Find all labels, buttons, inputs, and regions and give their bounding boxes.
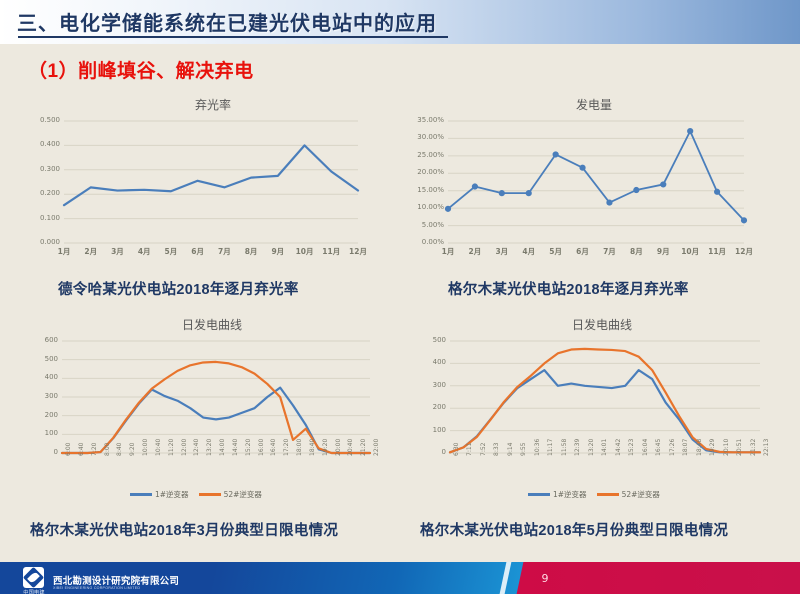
chart-title-3: 日发电曲线 — [22, 316, 402, 333]
x-axis-tick-label: 22:00 — [373, 439, 380, 456]
chart-canvas-1: 0.0000.1000.2000.3000.4000.5001月2月3月4月5月… — [28, 115, 368, 265]
legend-swatch-series2 — [199, 493, 221, 496]
x-axis-tick-label: 11:17 — [547, 439, 554, 456]
legend-label-series1: 1#逆变器 — [553, 489, 587, 500]
x-axis-tick-label: 5月 — [542, 246, 570, 257]
x-axis-tick-label: 9:55 — [520, 443, 527, 456]
y-axis-tick-label: 300 — [412, 381, 446, 389]
plot-area — [28, 115, 368, 265]
x-axis-tick-label: 19:20 — [322, 439, 329, 456]
x-axis-tick-label: 1月 — [434, 246, 462, 257]
x-axis-tick-label: 3月 — [103, 246, 131, 257]
x-axis-tick-label: 8:40 — [116, 443, 123, 456]
data-point — [741, 218, 746, 223]
chart-block-4: 日发电曲线 01002003004005006:307:117:528:339:… — [412, 316, 792, 495]
x-axis-tick-label: 10:00 — [142, 439, 149, 456]
legend-item-series2: 52#逆变器 — [199, 489, 262, 500]
data-point — [526, 191, 531, 196]
chart-title-1: 弃光率 — [28, 96, 398, 113]
y-axis-tick-label: 400 — [412, 358, 446, 366]
series-line-1 — [448, 131, 744, 220]
x-axis-tick-label: 5月 — [157, 246, 185, 257]
x-axis-tick-label: 10月 — [676, 246, 704, 257]
y-axis-tick-label: 25.00% — [404, 151, 444, 159]
x-axis-tick-label: 19:29 — [709, 439, 716, 456]
legend-swatch-series1 — [130, 493, 152, 496]
x-axis-tick-label: 16:04 — [642, 439, 649, 456]
x-axis-tick-label: 6:30 — [453, 443, 460, 456]
x-axis-tick-label: 9月 — [264, 246, 292, 257]
y-axis-tick-label: 100 — [22, 429, 58, 437]
x-axis-tick-label: 18:00 — [296, 439, 303, 456]
y-axis-tick-label: 0 — [22, 448, 58, 456]
x-axis-tick-label: 17:26 — [669, 439, 676, 456]
x-axis-tick-label: 6月 — [184, 246, 212, 257]
chart-canvas-4: 01002003004005006:307:117:528:339:149:55… — [412, 335, 772, 495]
x-axis-tick-label: 9:20 — [129, 443, 136, 456]
data-point — [714, 189, 719, 194]
x-axis-tick-label: 7:20 — [91, 443, 98, 456]
x-axis-tick-label: 16:00 — [258, 439, 265, 456]
x-axis-tick-label: 2月 — [77, 246, 105, 257]
x-axis-tick-label: 18:07 — [682, 439, 689, 456]
data-point — [553, 152, 558, 157]
x-axis-tick-label: 11月 — [703, 246, 731, 257]
y-axis-tick-label: 0.400 — [28, 140, 60, 148]
x-axis-tick-label: 8月 — [622, 246, 650, 257]
legend-label-series2: 52#逆变器 — [224, 489, 262, 500]
x-axis-tick-label: 4月 — [130, 246, 158, 257]
x-axis-tick-label: 12月 — [730, 246, 758, 257]
y-axis-tick-label: 10.00% — [404, 203, 444, 211]
data-point — [472, 184, 477, 189]
x-axis-tick-label: 20:10 — [723, 439, 730, 456]
x-axis-tick-label: 3月 — [488, 246, 516, 257]
x-axis-tick-label: 10:40 — [155, 439, 162, 456]
legend-label-series2: 52#逆变器 — [622, 489, 660, 500]
chart-block-1: 弃光率 0.0000.1000.2000.3000.4000.5001月2月3月… — [28, 96, 398, 265]
data-point — [580, 165, 585, 170]
plot-area — [22, 335, 382, 495]
x-axis-tick-label: 6:00 — [65, 443, 72, 456]
data-point — [634, 187, 639, 192]
slide-footer: 中国电建 POWERCHINA 西北勘测设计研究院有限公司 XIBEI ENGI… — [0, 562, 800, 594]
x-axis-tick-label: 20:40 — [347, 439, 354, 456]
section-subtitle: （1）削峰填谷、解决弃电 — [28, 56, 254, 83]
x-axis-tick-label: 8月 — [237, 246, 265, 257]
chart-legend-3: 1#逆变器 52#逆变器 — [130, 489, 262, 500]
logo-brand-cn: 中国电建 — [23, 589, 45, 594]
title-underline — [18, 36, 448, 38]
plot-area — [404, 115, 754, 265]
x-axis-tick-label: 18:40 — [309, 439, 316, 456]
legend-item-series1: 1#逆变器 — [130, 489, 189, 500]
x-axis-tick-label: 10:36 — [534, 439, 541, 456]
y-axis-tick-label: 0.100 — [28, 214, 60, 222]
x-axis-tick-label: 4月 — [515, 246, 543, 257]
x-axis-tick-label: 7月 — [595, 246, 623, 257]
x-axis-tick-label: 1月 — [50, 246, 78, 257]
x-axis-tick-label: 16:40 — [270, 439, 277, 456]
x-axis-tick-label: 7:11 — [466, 443, 473, 456]
chart-legend-4: 1#逆变器 52#逆变器 — [528, 489, 660, 500]
x-axis-tick-label: 8:00 — [104, 443, 111, 456]
caption-chart-3: 格尔木某光伏电站2018年3月份典型日限电情况 — [30, 519, 338, 540]
x-axis-tick-label: 6:40 — [78, 443, 85, 456]
x-axis-tick-label: 12:39 — [574, 439, 581, 456]
x-axis-tick-label: 17:20 — [283, 439, 290, 456]
legend-item-series2: 52#逆变器 — [597, 489, 660, 500]
y-axis-tick-label: 0.000 — [28, 238, 60, 246]
chart-title-2: 发电量 — [404, 96, 784, 113]
x-axis-tick-label: 12:40 — [193, 439, 200, 456]
legend-label-series1: 1#逆变器 — [155, 489, 189, 500]
chart-canvas-3: 01002003004005006006:006:407:208:008:409… — [22, 335, 382, 495]
caption-chart-4: 格尔木某光伏电站2018年5月份典型日限电情况 — [420, 519, 728, 540]
x-axis-tick-label: 21:20 — [360, 439, 367, 456]
x-axis-tick-label: 18:48 — [696, 439, 703, 456]
y-axis-tick-label: 400 — [22, 373, 58, 381]
y-axis-tick-label: 0.00% — [404, 238, 444, 246]
company-logo: 中国电建 POWERCHINA 西北勘测设计研究院有限公司 XIBEI ENGI… — [22, 567, 179, 594]
y-axis-tick-label: 0.200 — [28, 189, 60, 197]
legend-swatch-series1 — [528, 493, 550, 496]
x-axis-tick-label: 14:40 — [232, 439, 239, 456]
legend-item-series1: 1#逆变器 — [528, 489, 587, 500]
data-point — [607, 200, 612, 205]
y-axis-tick-label: 500 — [412, 336, 446, 344]
x-axis-tick-label: 8:33 — [493, 443, 500, 456]
x-axis-tick-label: 13:20 — [588, 439, 595, 456]
y-axis-tick-label: 5.00% — [404, 221, 444, 229]
logo-company-en: XIBEI ENGINEERING CORPORATION LIMITED — [53, 587, 179, 591]
chart-canvas-2: 0.00%5.00%10.00%15.00%20.00%25.00%30.00%… — [404, 115, 754, 265]
caption-chart-1: 德令哈某光伏电站2018年逐月弃光率 — [58, 278, 299, 299]
x-axis-tick-label: 20:51 — [736, 439, 743, 456]
y-axis-tick-label: 15.00% — [404, 186, 444, 194]
x-axis-tick-label: 12:00 — [181, 439, 188, 456]
y-axis-tick-label: 0.500 — [28, 116, 60, 124]
data-point — [688, 129, 693, 134]
legend-swatch-series2 — [597, 493, 619, 496]
powerchina-logo-icon — [23, 567, 44, 588]
data-point — [499, 191, 504, 196]
x-axis-tick-label: 11月 — [317, 246, 345, 257]
y-axis-tick-label: 200 — [412, 403, 446, 411]
x-axis-tick-label: 14:01 — [601, 439, 608, 456]
slide-root: 三、电化学储能系统在已建光伏电站中的应用 （1）削峰填谷、解决弃电 弃光率 0.… — [0, 0, 800, 594]
y-axis-tick-label: 0.300 — [28, 165, 60, 173]
x-axis-tick-label: 11:20 — [168, 439, 175, 456]
x-axis-tick-label: 14:42 — [615, 439, 622, 456]
x-axis-tick-label: 22:13 — [763, 439, 770, 456]
x-axis-tick-label: 2月 — [461, 246, 489, 257]
chart-title-4: 日发电曲线 — [412, 316, 792, 333]
x-axis-tick-label: 6月 — [569, 246, 597, 257]
x-axis-tick-label: 14:00 — [219, 439, 226, 456]
logo-diamond-shape — [23, 567, 44, 588]
plot-area — [412, 335, 772, 495]
x-axis-tick-label: 7:52 — [480, 443, 487, 456]
chart-block-2: 发电量 0.00%5.00%10.00%15.00%20.00%25.00%30… — [404, 96, 784, 265]
x-axis-tick-label: 7月 — [210, 246, 238, 257]
x-axis-tick-label: 15:23 — [628, 439, 635, 456]
x-axis-tick-label: 12月 — [344, 246, 372, 257]
x-axis-tick-label: 20:00 — [335, 439, 342, 456]
x-axis-tick-label: 15:20 — [245, 439, 252, 456]
data-point — [445, 206, 450, 211]
x-axis-tick-label: 11:58 — [561, 439, 568, 456]
caption-chart-2: 格尔木某光伏电站2018年逐月弃光率 — [448, 278, 689, 299]
y-axis-tick-label: 100 — [412, 426, 446, 434]
x-axis-tick-label: 10月 — [291, 246, 319, 257]
y-axis-tick-label: 300 — [22, 392, 58, 400]
logo-brand-col: 中国电建 POWERCHINA — [22, 567, 46, 594]
y-axis-tick-label: 500 — [22, 355, 58, 363]
chart-block-3: 日发电曲线 01002003004005006006:006:407:208:0… — [22, 316, 402, 495]
logo-company-col: 西北勘测设计研究院有限公司 XIBEI ENGINEERING CORPORAT… — [53, 577, 179, 591]
series-line-2 — [450, 349, 760, 452]
x-axis-tick-label: 16:45 — [655, 439, 662, 456]
page-title: 三、电化学储能系统在已建光伏电站中的应用 — [17, 7, 437, 36]
series-line-1 — [64, 145, 358, 205]
y-axis-tick-label: 20.00% — [404, 168, 444, 176]
x-axis-tick-label: 13:20 — [206, 439, 213, 456]
data-point — [661, 182, 666, 187]
x-axis-tick-label: 9:14 — [507, 443, 514, 456]
y-axis-tick-label: 0 — [412, 448, 446, 456]
x-axis-tick-label: 21:32 — [750, 439, 757, 456]
y-axis-tick-label: 30.00% — [404, 133, 444, 141]
x-axis-tick-label: 9月 — [649, 246, 677, 257]
y-axis-tick-label: 200 — [22, 411, 58, 419]
y-axis-tick-label: 600 — [22, 336, 58, 344]
y-axis-tick-label: 35.00% — [404, 116, 444, 124]
